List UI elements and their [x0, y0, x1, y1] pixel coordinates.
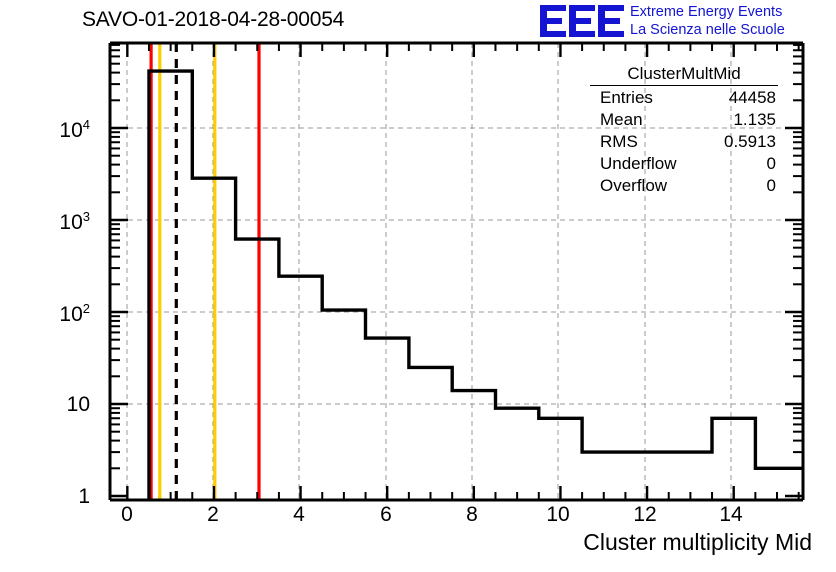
- stats-box: ClusterMultMid Entries 44458 Mean 1.135 …: [586, 64, 782, 197]
- stats-row: Entries 44458: [586, 87, 782, 109]
- stats-box-title: ClusterMultMid: [590, 64, 778, 86]
- y-ticklabel-1: 1: [78, 485, 90, 509]
- stats-value: 1.135: [733, 109, 776, 131]
- stats-value: 44458: [729, 87, 776, 109]
- stats-row: Overflow 0: [586, 175, 782, 197]
- stats-row: Underflow 0: [586, 153, 782, 175]
- x-ticklabel-2: 2: [199, 503, 227, 527]
- stats-key: Underflow: [600, 153, 677, 175]
- x-axis-title: Cluster multiplicity Mid: [583, 529, 812, 556]
- y-ticklabel-1e2: 102: [59, 301, 90, 327]
- stats-key: Mean: [600, 109, 643, 131]
- stats-value: 0: [767, 153, 776, 175]
- x-ticklabel-4: 4: [285, 503, 313, 527]
- y-ticklabel-1e3: 103: [59, 209, 90, 235]
- x-ticklabel-8: 8: [458, 503, 486, 527]
- stats-value: 0.5913: [724, 131, 776, 153]
- y-ticklabel-1e4: 104: [59, 117, 90, 143]
- stats-key: RMS: [600, 131, 638, 153]
- stats-row: Mean 1.135: [586, 109, 782, 131]
- x-ticklabel-6: 6: [372, 503, 400, 527]
- x-ticklabel-12: 12: [624, 503, 666, 527]
- y-ticklabel-10: 10: [67, 393, 90, 417]
- stats-key: Entries: [600, 87, 653, 109]
- x-ticklabel-0: 0: [113, 503, 141, 527]
- x-ticklabel-14: 14: [710, 503, 752, 527]
- stats-key: Overflow: [600, 175, 667, 197]
- stats-row: RMS 0.5913: [586, 131, 782, 153]
- stats-value: 0: [767, 175, 776, 197]
- x-ticklabel-10: 10: [537, 503, 579, 527]
